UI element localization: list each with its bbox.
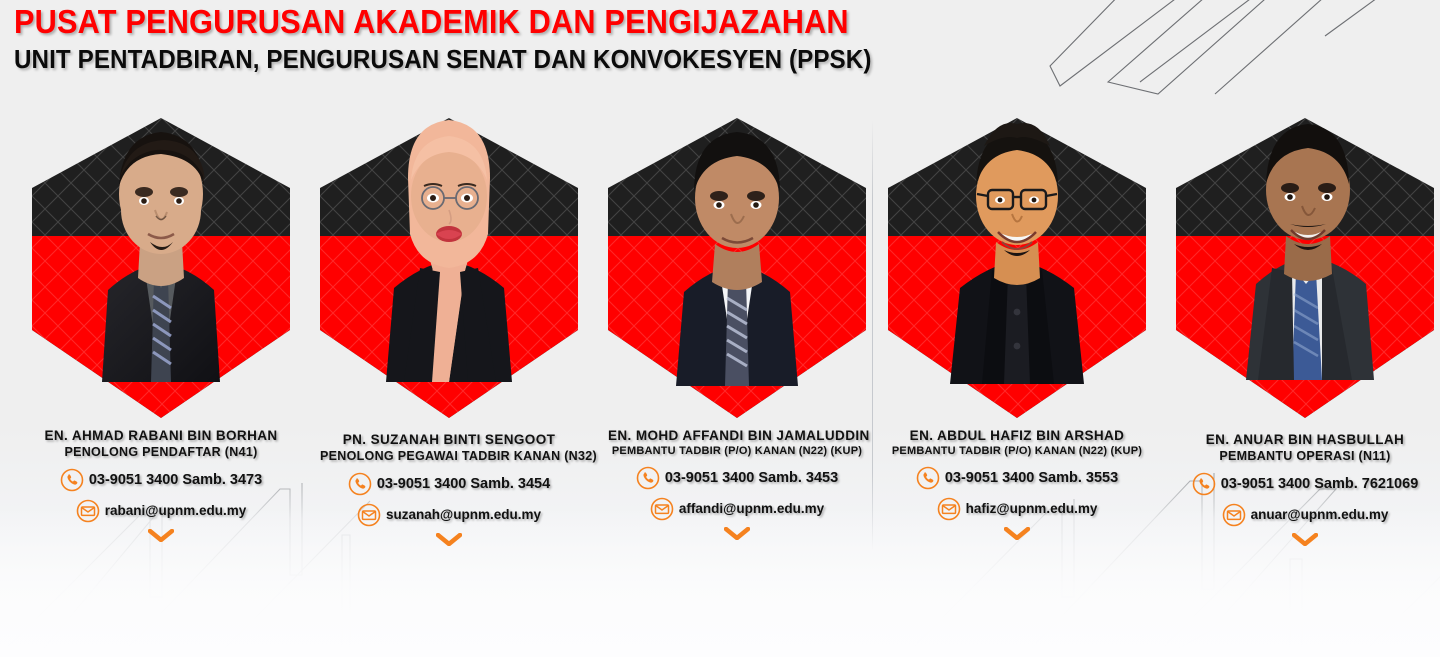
person-info: EN. ANUAR BIN HASBULLAH PEMBANTU OPERASI… [1176,432,1434,546]
page-subtitle: UNIT PENTADBIRAN, PENGURUSAN SENAT DAN K… [14,45,871,75]
person-photo [888,84,1146,384]
phone-number: 03-9051 3400 Samb. 3454 [377,476,550,492]
person-photo [1176,80,1434,380]
person-email[interactable]: hafiz@upnm.edu.my [888,497,1146,521]
email-icon [937,497,961,521]
email-icon [1222,503,1246,527]
person-phone[interactable]: 03-9051 3400 Samb. 7621069 [1176,472,1434,496]
phone-number: 03-9051 3400 Samb. 3473 [89,472,262,488]
person-info: PN. SUZANAH BINTI SENGOOT PENOLONG PEGAW… [320,432,578,546]
chevron-down-icon [724,527,750,540]
email-address: hafiz@upnm.edu.my [966,501,1098,516]
person-role: PEMBANTU OPERASI (N11) [1176,449,1434,465]
chevron-down-icon [1004,527,1030,540]
email-address: affandi@upnm.edu.my [679,501,824,516]
email-icon [650,497,674,521]
person-info: EN. AHMAD RABANI BIN BORHAN PENOLONG PEN… [32,428,290,542]
chevron-down-icon [1292,533,1318,546]
page-title: PUSAT PENGURUSAN AKADEMIK DAN PENGIJAZAH… [14,4,871,41]
person-photo [32,82,290,382]
email-icon [357,503,381,527]
chevron-down-icon [148,529,174,542]
phone-number: 03-9051 3400 Samb. 3453 [665,470,838,486]
person-role: PENOLONG PEGAWAI TADBIR KANAN (N32) [320,449,578,465]
phone-icon [1192,472,1216,496]
email-address: suzanah@upnm.edu.my [386,507,541,522]
email-address: rabani@upnm.edu.my [105,503,246,518]
person-name: EN. ABDUL HAFIZ BIN ARSHAD [888,428,1146,445]
phone-icon [60,468,84,492]
person-role: PEMBANTU TADBIR (P/O) KANAN (N22) (KUP) [888,445,1146,459]
person-role: PEMBANTU TADBIR (P/O) KANAN (N22) (KUP) [608,445,866,459]
person-email[interactable]: anuar@upnm.edu.my [1176,503,1434,527]
person-email[interactable]: rabani@upnm.edu.my [32,499,290,523]
person-name: EN. ANUAR BIN HASBULLAH [1176,432,1434,449]
poster-canvas: PUSAT PENGURUSAN AKADEMIK DAN PENGIJAZAH… [0,0,1440,657]
phone-number: 03-9051 3400 Samb. 7621069 [1221,476,1419,492]
email-address: anuar@upnm.edu.my [1251,507,1389,522]
phone-icon [348,472,372,496]
person-photo [608,86,866,386]
person-info: EN. MOHD AFFANDI BIN JAMALUDDIN PEMBANTU… [608,428,866,540]
person-phone[interactable]: 03-9051 3400 Samb. 3473 [32,468,290,492]
person-role: PENOLONG PENDAFTAR (N41) [32,445,290,461]
person-name: EN. MOHD AFFANDI BIN JAMALUDDIN [608,428,866,445]
person-phone[interactable]: 03-9051 3400 Samb. 3454 [320,472,578,496]
person-photo [320,82,578,382]
header: PUSAT PENGURUSAN AKADEMIK DAN PENGIJAZAH… [14,4,936,75]
email-icon [76,499,100,523]
person-email[interactable]: suzanah@upnm.edu.my [320,503,578,527]
person-phone[interactable]: 03-9051 3400 Samb. 3453 [608,466,866,490]
person-phone[interactable]: 03-9051 3400 Samb. 3553 [888,466,1146,490]
person-name: EN. AHMAD RABANI BIN BORHAN [32,428,290,445]
chevron-down-icon [436,533,462,546]
phone-icon [636,466,660,490]
phone-number: 03-9051 3400 Samb. 3553 [945,470,1118,486]
person-name: PN. SUZANAH BINTI SENGOOT [320,432,578,449]
person-email[interactable]: affandi@upnm.edu.my [608,497,866,521]
phone-icon [916,466,940,490]
person-info: EN. ABDUL HAFIZ BIN ARSHAD PEMBANTU TADB… [888,428,1146,540]
section-divider [872,120,873,550]
